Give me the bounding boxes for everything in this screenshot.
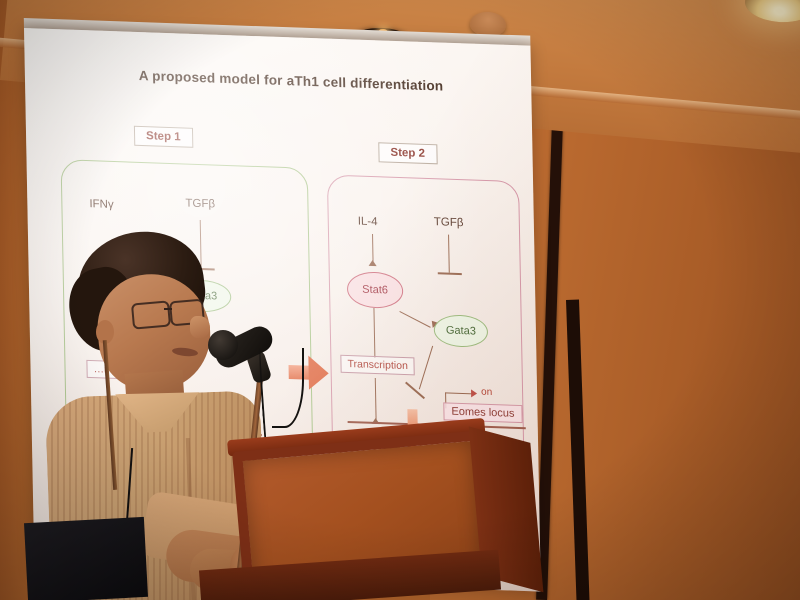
slide-title: A proposed model for aTh1 cell different… (111, 67, 472, 95)
speaker-nose (190, 316, 210, 338)
step2-il4-label: IL-4 (358, 216, 378, 229)
step2-on-arrowhead (471, 389, 477, 397)
glasses-icon (131, 300, 171, 329)
presentation-photo: A proposed model for aTh1 cell different… (0, 0, 800, 600)
step2-il4-arrowhead (369, 260, 377, 266)
step1-badge: Step 1 (134, 126, 193, 148)
step2-transcription-box: Transcription (340, 355, 415, 376)
step1-ifng-label: IFNγ (89, 198, 114, 211)
step2-on-label: on (481, 387, 492, 398)
step2-badge: Step 2 (378, 142, 437, 164)
step1-tgfb-label: TGFβ (185, 197, 215, 210)
step2-tgfb-label: TGFβ (434, 216, 464, 229)
dark-equipment-box (24, 517, 148, 600)
glasses-bridge (164, 308, 172, 310)
microphone-head-icon (208, 330, 238, 360)
